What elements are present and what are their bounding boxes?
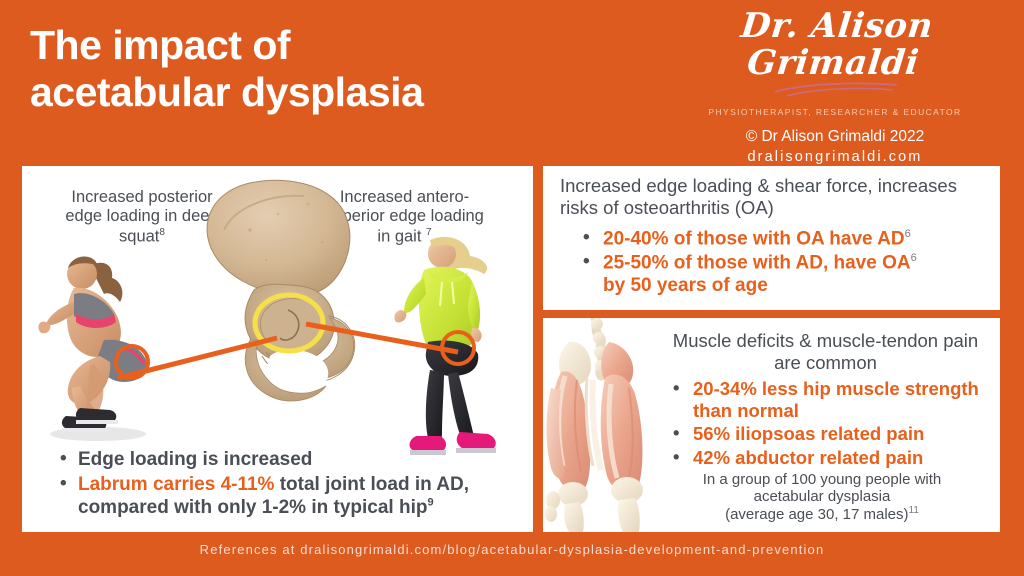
- muscle-deficits-heading: Muscle deficits & muscle-tendon pain are…: [663, 330, 988, 374]
- brand-swoosh-decoration: [670, 81, 1000, 102]
- right-top-panel: Increased edge loading & shear force, in…: [543, 166, 1000, 310]
- brand-tagline: PHYSIOTHERAPIST, RESEARCHER & EDUCATOR: [670, 107, 1000, 117]
- list-item: 42% abductor related pain: [671, 447, 991, 469]
- page-title: The impact of acetabular dysplasia: [30, 22, 650, 115]
- oa-bullet-2-text: 25-50% of those with AD, have OA: [603, 252, 911, 273]
- note-line-3: (average age 30, 17 males): [725, 506, 908, 523]
- note-line-2: acetabular dysplasia: [754, 488, 891, 505]
- brand-block: Dr. Alison Grimaldi PHYSIOTHERAPIST, RES…: [670, 8, 1000, 165]
- oa-heading: Increased edge loading & shear force, in…: [560, 175, 990, 219]
- brand-logo-text: Dr. Alison Grimaldi: [666, 8, 1004, 83]
- oa-bullet-1-text: 20-40% of those with OA have AD: [603, 228, 905, 249]
- list-item: 25-50% of those with AD, have OA6 by 50 …: [581, 252, 991, 298]
- website-url: dralisongrimaldi.com: [670, 149, 1000, 165]
- oa-bullet-2-reference: 6: [911, 252, 917, 264]
- woman-walking-photo: [374, 224, 524, 474]
- oa-bullet-list: 20-40% of those with OA have AD6 25-50% …: [581, 228, 991, 299]
- oa-bullet-2-continuation: by 50 years of age: [603, 275, 991, 298]
- muscle-bullet-list: 20-34% less hip muscle strength than nor…: [671, 378, 991, 470]
- woman-deep-squat-photo: [28, 244, 178, 444]
- bullet-edge-loading: Edge loading is increased: [78, 449, 312, 470]
- footer-references: References at dralisongrimaldi.com/blog/…: [0, 542, 1024, 557]
- oa-bullet-1-reference: 6: [905, 228, 911, 240]
- list-item: 20-34% less hip muscle strength than nor…: [671, 378, 991, 422]
- hip-thigh-muscle-anatomy-illustration: [543, 318, 661, 532]
- list-item: Edge loading is increased: [56, 448, 526, 471]
- slide-root: The impact of acetabular dysplasia Dr. A…: [0, 0, 1024, 576]
- note-line-1: In a group of 100 young people with: [703, 471, 942, 488]
- right-bottom-panel: Muscle deficits & muscle-tendon pain are…: [543, 318, 1000, 532]
- title-line-2: acetabular dysplasia: [30, 69, 650, 116]
- list-item: 20-40% of those with OA have AD6: [581, 228, 991, 251]
- bullet-labrum-reference: 9: [427, 497, 433, 509]
- bullet-labrum-highlight: Labrum carries 4-11%: [78, 474, 274, 495]
- pelvis-bone-illustration: [158, 168, 388, 408]
- left-panel-bullets: Edge loading is increased Labrum carries…: [56, 448, 526, 522]
- list-item: Labrum carries 4-11% total joint load in…: [56, 473, 526, 519]
- left-panel: Increased posterior edge loading in deep…: [22, 166, 533, 532]
- copyright-notice: © Dr Alison Grimaldi 2022: [670, 128, 1000, 146]
- note-reference: 11: [909, 505, 919, 516]
- title-line-1: The impact of: [30, 22, 290, 68]
- list-item: 56% iliopsoas related pain: [671, 423, 991, 445]
- study-population-note: In a group of 100 young people with acet…: [651, 471, 993, 523]
